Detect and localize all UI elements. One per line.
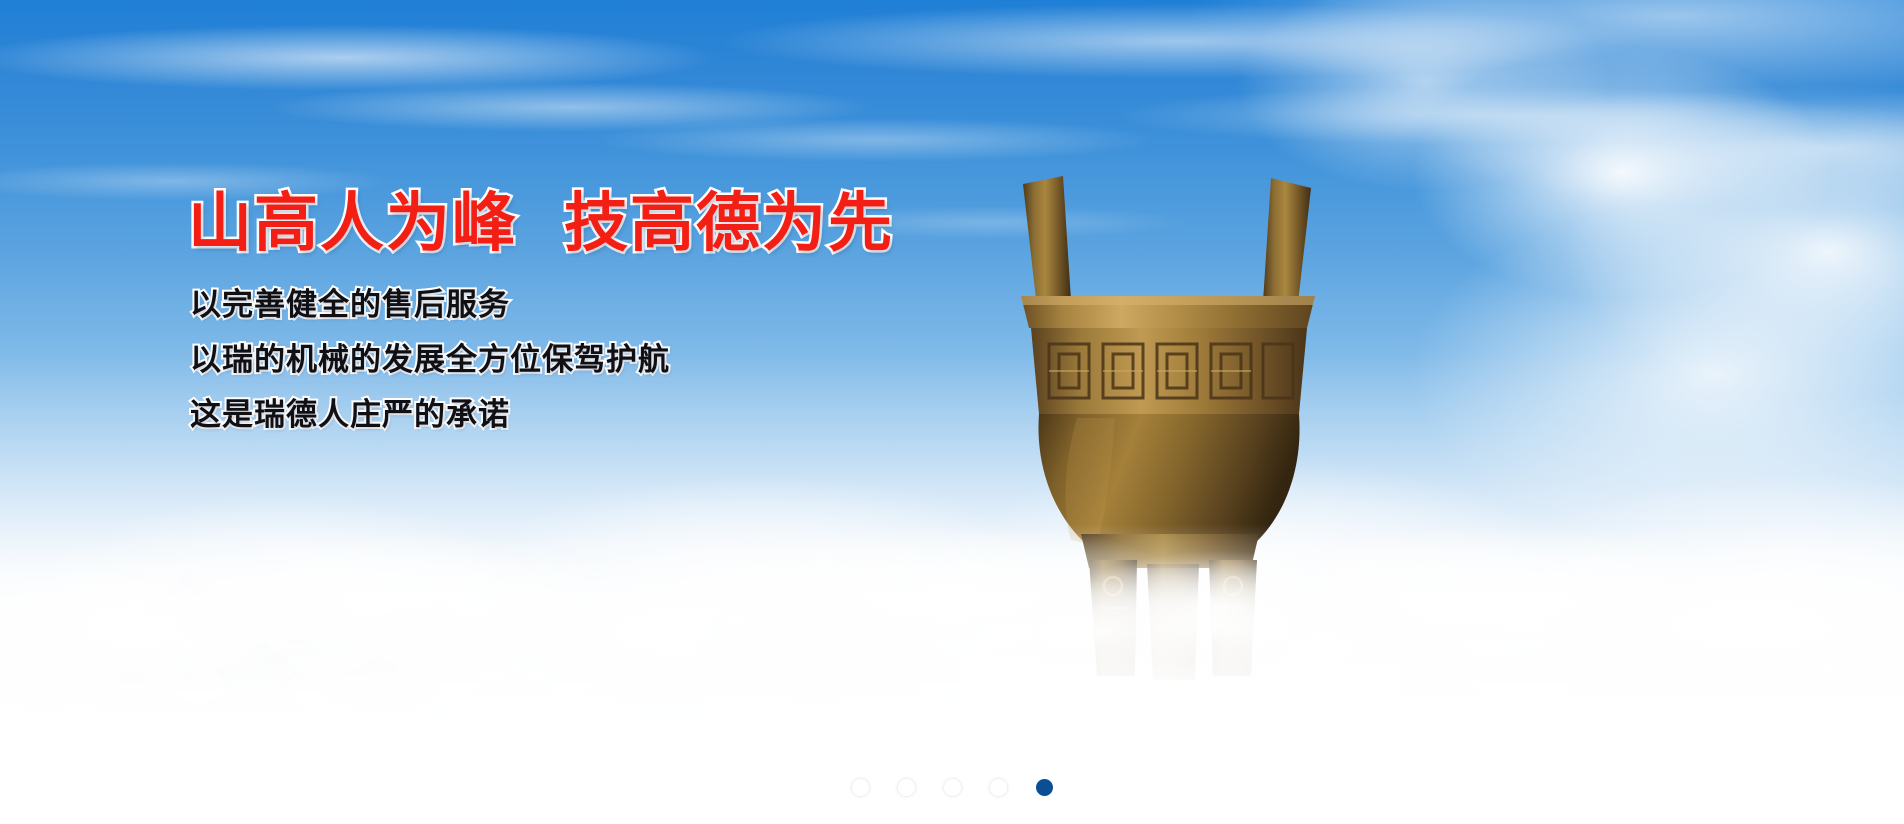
banner-copy: 山高人为峰技高德为先 以完善健全的售后服务 以瑞的机械的发展全方位保驾护航 这是… bbox=[188, 186, 1048, 447]
banner-subline-2: 以瑞的机械的发展全方位保驾护航 bbox=[190, 337, 1048, 383]
banner-headline: 山高人为峰技高德为先 bbox=[188, 186, 1048, 260]
banner-subline-1: 以完善健全的售后服务 bbox=[190, 282, 1048, 328]
carousel-pagination[interactable] bbox=[852, 779, 1053, 796]
carousel-dot-1[interactable] bbox=[852, 779, 869, 796]
carousel-dot-4[interactable] bbox=[990, 779, 1007, 796]
banner-sublines: 以完善健全的售后服务 以瑞的机械的发展全方位保驾护航 这是瑞德人庄严的承诺 bbox=[190, 282, 1048, 438]
headline-part-1: 山高人为峰 bbox=[188, 187, 518, 259]
headline-part-2: 技高德为先 bbox=[564, 187, 894, 259]
banner-subline-3: 这是瑞德人庄严的承诺 bbox=[190, 392, 1048, 438]
hero-banner: 山高人为峰技高德为先 以完善健全的售后服务 以瑞的机械的发展全方位保驾护航 这是… bbox=[0, 0, 1904, 824]
carousel-dot-2[interactable] bbox=[898, 779, 915, 796]
carousel-dot-3[interactable] bbox=[944, 779, 961, 796]
carousel-dot-5[interactable] bbox=[1036, 779, 1053, 796]
